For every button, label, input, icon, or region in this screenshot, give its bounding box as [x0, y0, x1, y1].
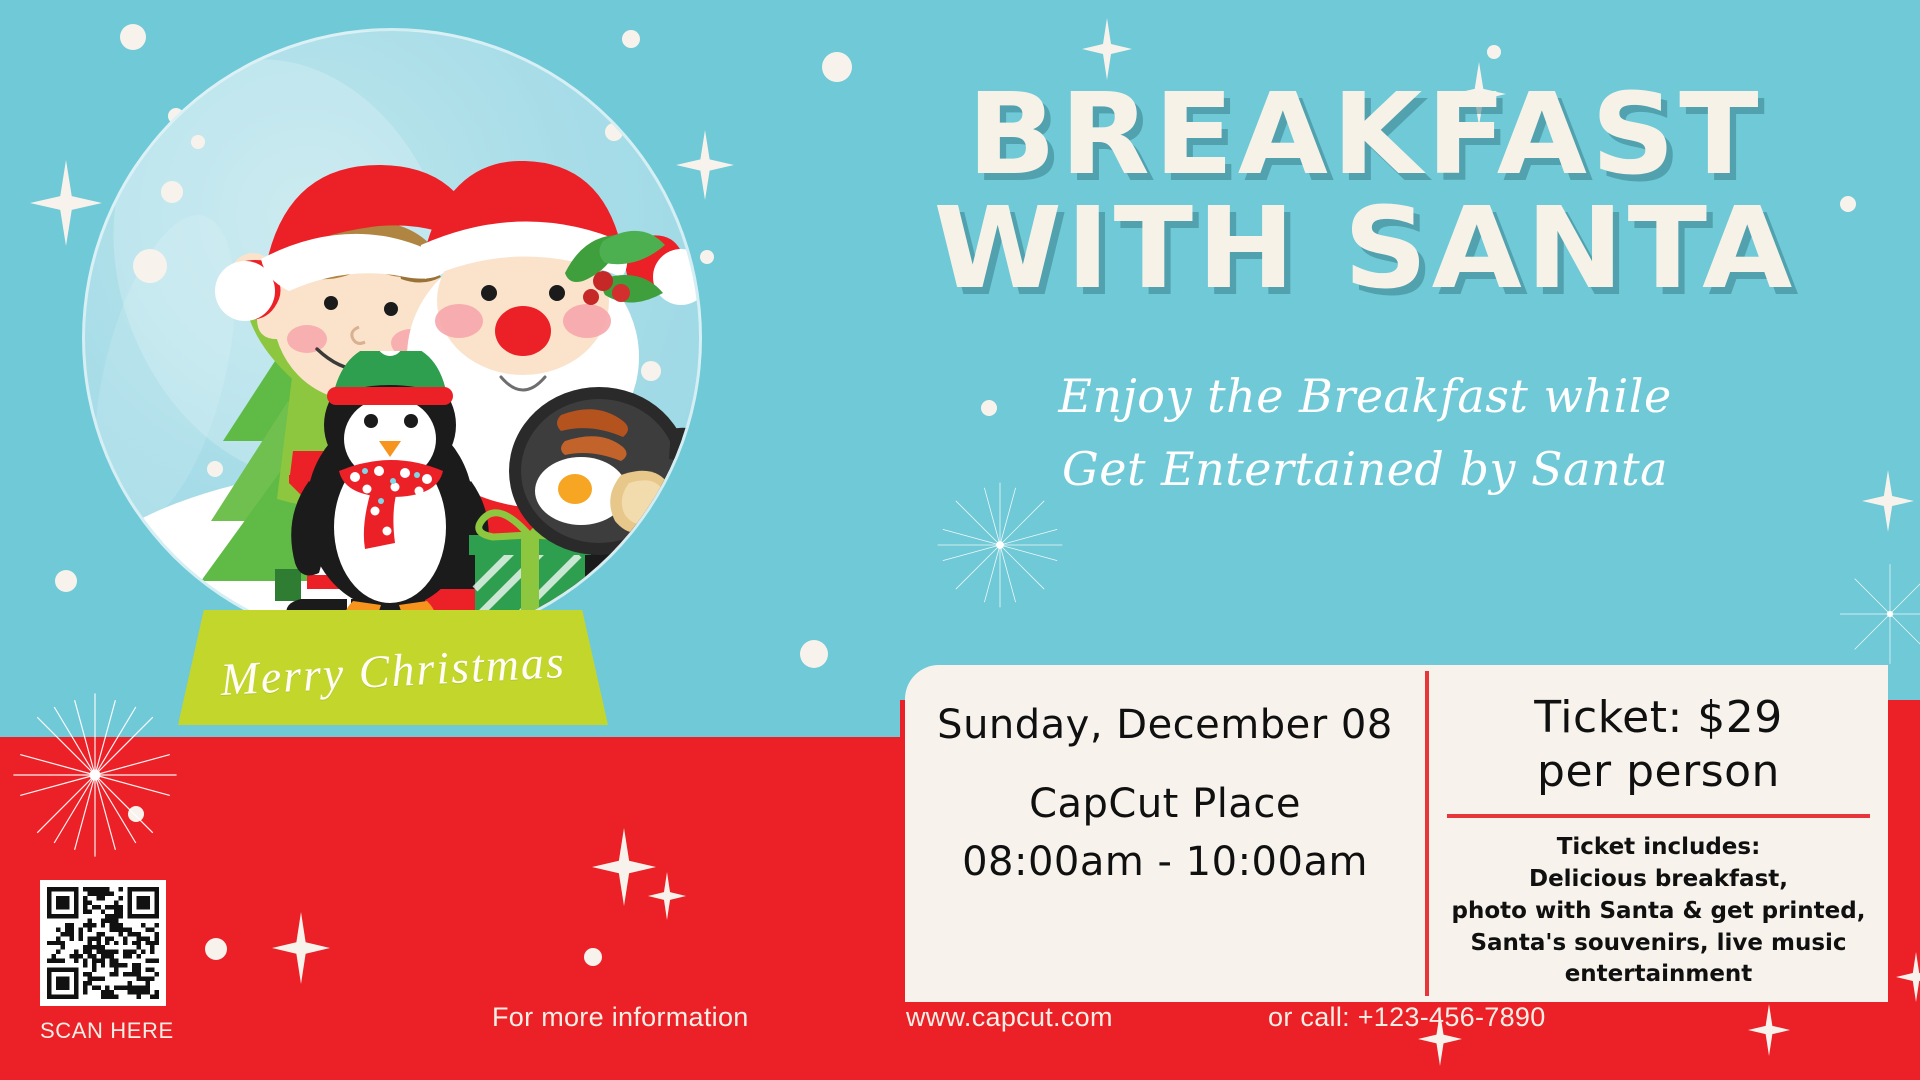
event-info-panel: Sunday, December 08 CapCut Place 08:00am…	[905, 665, 1425, 1002]
page-title: BREAKFAST WITH SANTA	[860, 78, 1870, 306]
footer-website-link[interactable]: www.capcut.com	[906, 1002, 1113, 1033]
subtitle: Enjoy the Breakfast while Get Entertaine…	[860, 360, 1870, 505]
ticket-price-line-1: Ticket: $29	[1534, 691, 1782, 745]
breakfast-pan-icon	[503, 379, 702, 559]
snow-globe-illustration: Merry Christmas	[60, 10, 740, 840]
headline-line-1: BREAKFAST	[840, 78, 1890, 192]
event-venue: CapCut Place	[929, 775, 1401, 833]
decor-dot	[800, 640, 828, 668]
footer-more-info: For more information	[492, 1002, 749, 1033]
globe-base: Merry Christmas	[178, 610, 608, 725]
ticket-panel: Ticket: $29 per person Ticket includes: …	[1429, 665, 1888, 1002]
footer-phone[interactable]: or call: +123-456-7890	[1268, 1002, 1546, 1033]
event-date: Sunday, December 08	[929, 701, 1401, 749]
decor-dot	[584, 948, 602, 966]
ticket-includes-line: entertainment	[1565, 959, 1753, 991]
globe-snow-dot	[191, 135, 205, 149]
holly-icon	[551, 219, 671, 329]
decor-dot	[205, 938, 227, 960]
event-time: 08:00am - 10:00am	[929, 833, 1401, 891]
qr-code-icon[interactable]	[47, 887, 159, 999]
details-panel: Sunday, December 08 CapCut Place 08:00am…	[905, 665, 1888, 1002]
globe-snow-dot	[161, 181, 183, 203]
ticket-price-line-2: per person	[1537, 745, 1780, 799]
ticket-includes-line: photo with Santa & get printed,	[1452, 896, 1866, 928]
footer-bar: For more information www.capcut.com or c…	[0, 1002, 1920, 1060]
ticket-includes-line: Santa's souvenirs, live music	[1470, 928, 1846, 960]
qr-code-frame[interactable]	[40, 880, 166, 1006]
globe-sphere	[82, 28, 702, 648]
flyer-canvas: Merry Christmas BREAKFAST WITH SANTA Enj…	[0, 0, 1920, 1080]
globe-base-text: Merry Christmas	[177, 633, 609, 708]
decor-dot	[1487, 45, 1501, 59]
starburst-icon	[1838, 562, 1920, 666]
globe-snow-dot	[605, 123, 623, 141]
ticket-includes-title: Ticket includes:	[1557, 832, 1761, 864]
globe-snow-dot	[133, 249, 167, 283]
subtitle-line-2: Get Entertained by Santa	[860, 433, 1870, 506]
subtitle-line-1: Enjoy the Breakfast while	[860, 360, 1870, 433]
ticket-includes-line: Delicious breakfast,	[1529, 864, 1788, 896]
ticket-horizontal-divider	[1447, 814, 1870, 818]
headline-line-2: WITH SANTA	[840, 192, 1890, 306]
